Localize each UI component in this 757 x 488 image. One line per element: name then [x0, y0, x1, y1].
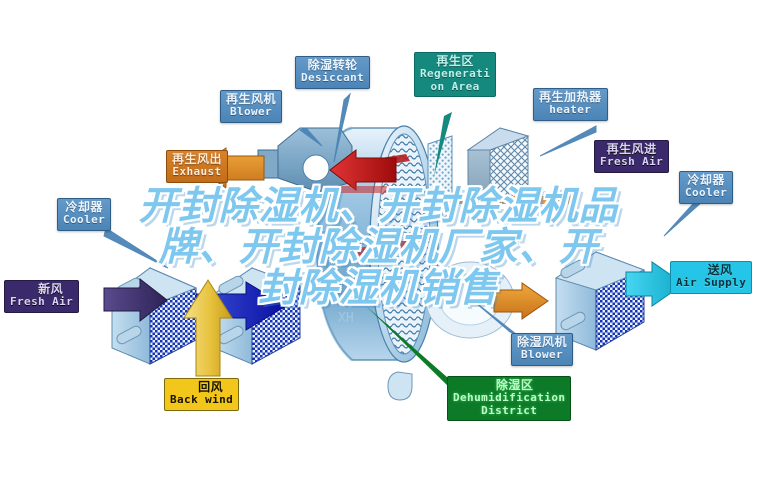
regeneration-heater [468, 128, 528, 204]
label-dehumidification-district: 除湿区 Dehumidification District [447, 376, 571, 421]
label-cooler-right-en: Cooler [685, 187, 727, 199]
label-air-supply-cn: 送风 [676, 264, 746, 277]
label-cooler-right: 冷却器 Cooler [679, 171, 733, 204]
label-regeneration-heater-en: heater [539, 104, 602, 116]
label-back-wind: 回风 Back wind [164, 378, 239, 411]
regeneration-seal-strip [326, 186, 418, 193]
label-cooler-left: 冷却器 Cooler [57, 198, 111, 231]
regeneration-duct-base [430, 196, 572, 204]
label-desiccant-rotor-cn: 除湿转轮 [301, 59, 364, 72]
label-dehumidification-district-en-line2: District [453, 405, 565, 417]
label-regeneration-area-cn: 再生区 [420, 55, 490, 68]
label-cooler-left-cn: 冷却器 [63, 201, 105, 214]
label-exhaust-cn: 再生风出 [172, 153, 222, 166]
label-fresh-air-en: Fresh Air [10, 296, 73, 308]
left-cooler-assembly [112, 268, 196, 364]
label-dehumidification-blower: 除湿风机 Blower [511, 333, 573, 366]
label-regeneration-air-inlet-en: Fresh Air [600, 156, 663, 168]
label-desiccant-rotor-en: Desiccant [301, 72, 364, 84]
label-back-wind-en: Back wind [170, 394, 233, 406]
label-desiccant-rotor: 除湿转轮 Desiccant [295, 56, 370, 89]
label-dehumidification-blower-cn: 除湿风机 [517, 336, 567, 349]
machine-artwork: XH [0, 0, 757, 488]
label-exhaust: 再生风出 Exhaust [166, 150, 228, 183]
label-exhaust-en: Exhaust [172, 166, 222, 178]
label-regeneration-blower-cn: 再生风机 [226, 93, 276, 106]
dehumidifier-diagram-canvas: XH [0, 0, 757, 488]
label-regeneration-heater-cn: 再生加热器 [539, 91, 602, 104]
label-regeneration-air-inlet: 再生风进 Fresh Air [594, 140, 669, 173]
label-cooler-left-en: Cooler [63, 214, 105, 226]
label-fresh-air: 新风 Fresh Air [4, 280, 79, 313]
label-regeneration-heater: 再生加热器 heater [533, 88, 608, 121]
label-regeneration-blower-en: Blower [226, 106, 276, 118]
label-regeneration-area: 再生区 Regenerati on Area [414, 52, 496, 97]
svg-text:XH: XH [338, 311, 354, 326]
label-air-supply: 送风 Air Supply [670, 261, 752, 294]
label-back-wind-cn: 回风 [170, 381, 233, 394]
label-dehumidification-district-en-line1: Dehumidification [453, 392, 565, 404]
label-regeneration-area-en-line2: on Area [420, 81, 490, 93]
label-cooler-right-cn: 冷却器 [685, 174, 727, 187]
label-regeneration-area-en-line1: Regenerati [420, 68, 490, 80]
label-fresh-air-cn: 新风 [10, 283, 73, 296]
label-air-supply-en: Air Supply [676, 277, 746, 289]
rotor-drip-pan [388, 372, 412, 400]
label-regeneration-blower: 再生风机 Blower [220, 90, 282, 123]
label-regeneration-air-inlet-cn: 再生风进 [600, 143, 663, 156]
label-dehumidification-blower-en: Blower [517, 349, 567, 361]
